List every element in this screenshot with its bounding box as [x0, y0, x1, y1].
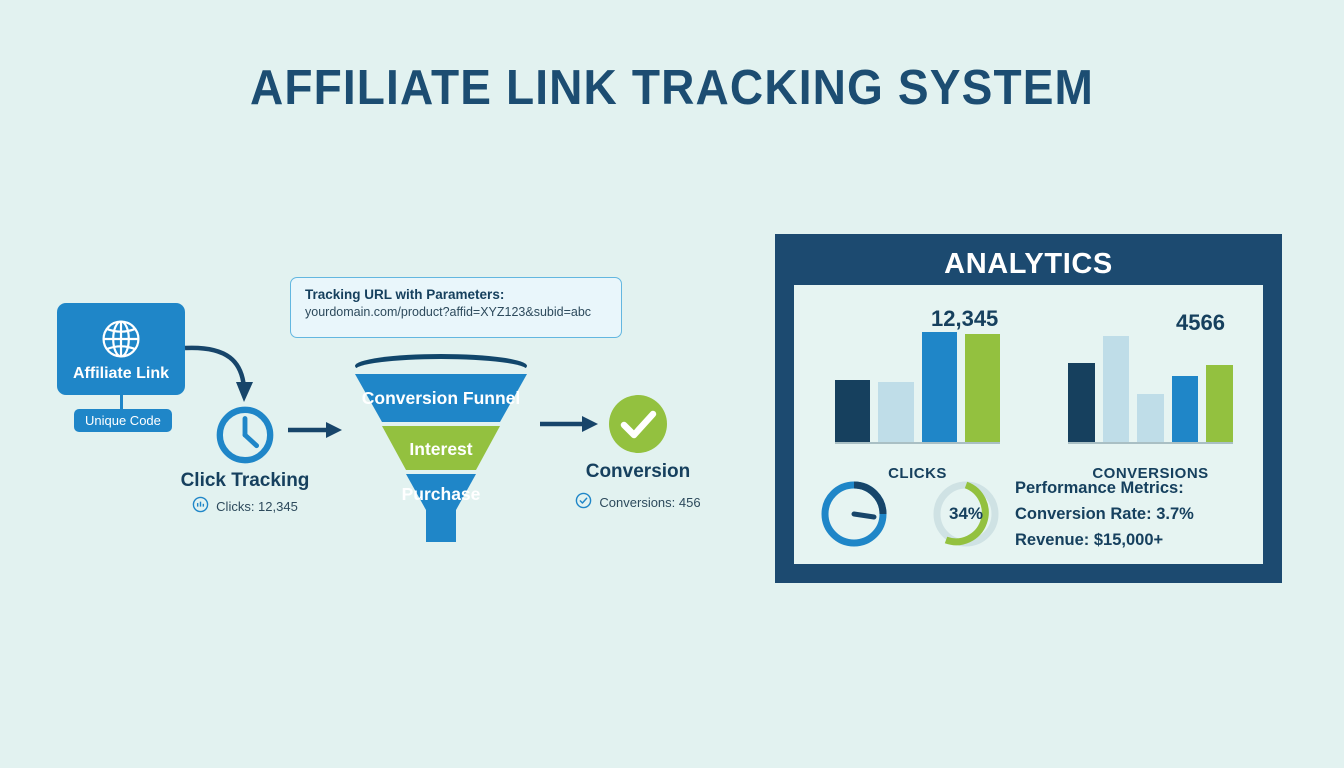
check-badge-icon [575, 492, 592, 512]
metrics-conversion-rate: Conversion Rate: 3.7% [1015, 501, 1265, 527]
bar [965, 334, 1000, 442]
conversion-funnel: Conversion Funnel Interest Purchase [330, 352, 552, 542]
click-tracking-label: Click Tracking [148, 470, 342, 492]
percent-gauge: 34% [930, 478, 1002, 550]
percent-gauge-value: 34% [930, 478, 1002, 550]
bar [1103, 336, 1130, 442]
bar [1206, 365, 1233, 442]
affiliate-link-label: Affiliate Link [73, 366, 169, 382]
conversions-chart-axis [1068, 442, 1233, 444]
unique-code-badge: Unique Code [74, 409, 172, 432]
bar [1137, 394, 1164, 442]
click-tracking-stat: Clicks: 12,345 [148, 496, 342, 516]
check-circle-icon [608, 394, 668, 454]
chart-badge-icon [192, 496, 209, 516]
funnel-stage-label-1: Conversion Funnel [362, 388, 520, 408]
clicks-chart-bars [835, 322, 1000, 442]
conversions-chart: 4566 CONVERSIONS [1068, 318, 1233, 458]
tracking-url-card[interactable]: Tracking URL with Parameters: yourdomain… [290, 277, 622, 338]
globe-icon [99, 317, 143, 361]
conversion-stat: Conversions: 456 [540, 492, 736, 512]
tracking-url-value: yourdomain.com/product?affid=XYZ123&subi… [305, 304, 607, 322]
clicks-chart: 12,345 CLICKS [835, 318, 1000, 458]
click-tracking-stat-text: Clicks: 12,345 [216, 499, 298, 514]
funnel-stage-label-2: Interest [409, 439, 472, 459]
bar [878, 382, 913, 442]
conversion-label: Conversion [540, 461, 736, 483]
affiliate-badge-connector [120, 395, 123, 409]
funnel-stage-label-3: Purchase [402, 484, 481, 504]
affiliate-link-node[interactable]: Affiliate Link [57, 303, 185, 395]
metrics-revenue: Revenue: $15,000+ [1015, 527, 1265, 553]
clicks-chart-axis [835, 442, 1000, 444]
bar [1172, 376, 1199, 442]
infographic-canvas: AFFILIATE LINK TRACKING SYSTEM Affiliate… [0, 0, 1344, 768]
page-title: AFFILIATE LINK TRACKING SYSTEM [40, 60, 1303, 116]
bar [922, 332, 957, 442]
tracking-url-title: Tracking URL with Parameters: [305, 286, 607, 304]
clock-icon [214, 404, 276, 466]
bar [1068, 363, 1095, 442]
performance-metrics: Performance Metrics: Conversion Rate: 3.… [1015, 475, 1265, 553]
conversion-stat-text: Conversions: 456 [599, 495, 700, 510]
speed-gauge [818, 478, 890, 550]
analytics-title: ANALYTICS [775, 248, 1282, 281]
conversions-chart-bars [1068, 322, 1233, 442]
bar [835, 380, 870, 442]
metrics-heading: Performance Metrics: [1015, 475, 1265, 501]
